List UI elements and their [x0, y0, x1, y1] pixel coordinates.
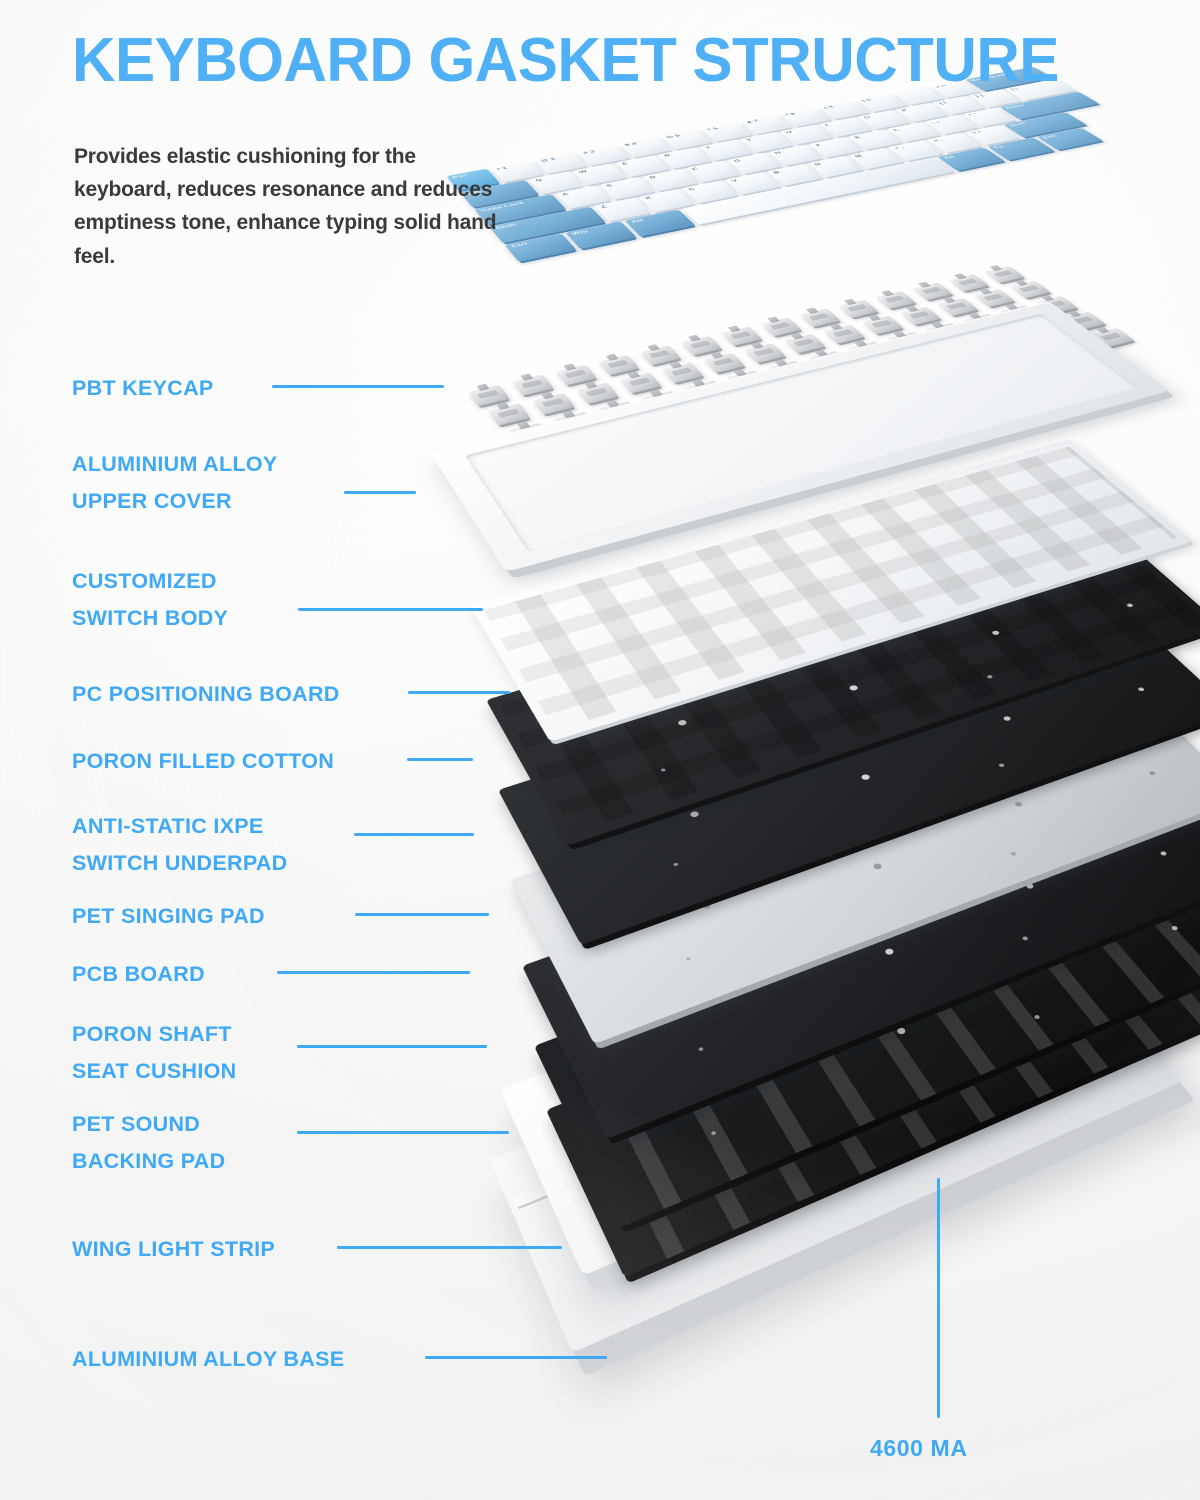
layer-pc-positioning-board [470, 439, 1192, 742]
keycap[interactable]: Enter [999, 92, 1099, 120]
mechanical-switch [937, 298, 978, 316]
callout-pet-sound-backing-pad: PET SOUND BACKING PAD [72, 1106, 225, 1179]
keycap[interactable]: * 8 [779, 107, 832, 126]
mechanical-switch [726, 370, 769, 391]
keycap-legend: Win [571, 229, 590, 236]
callout-label-pet-singing-pad: PET SINGING PAD [72, 898, 265, 935]
keyboard-row: Caps LockASDFGHJKL: ;" 'Enter [474, 92, 1099, 226]
keycap[interactable]: V [725, 172, 781, 195]
mechanical-switch [575, 431, 619, 454]
keycap[interactable]: I [819, 117, 872, 137]
keycap[interactable]: J [808, 137, 863, 158]
keycap-legend: W [578, 169, 589, 174]
keycap[interactable]: & 7 [740, 114, 793, 134]
keycap-legend: B [772, 170, 781, 174]
mechanical-switch [688, 429, 733, 452]
keycap[interactable]: C [682, 180, 738, 203]
keycap[interactable]: Shift [1003, 112, 1087, 138]
keycap[interactable]: W [573, 163, 628, 185]
keycap-legend: M [854, 154, 864, 158]
mechanical-switch [1010, 281, 1051, 299]
layer-aluminium-alloy-upper-cover [430, 301, 1169, 572]
keycap[interactable]: { [ [932, 96, 985, 115]
keycap-legend: $ 4 [624, 142, 638, 147]
leader-line-pc-positioning-board [408, 691, 510, 694]
layer-base-top-tray [500, 876, 1183, 1276]
keycap-legend: ) 0 [860, 98, 872, 102]
keycap-legend: O [863, 116, 872, 120]
mechanical-switch [703, 353, 745, 373]
keycap[interactable]: @ 2 [534, 152, 588, 174]
keycap[interactable]: T [699, 140, 753, 161]
callout-anti-static-ixpe: ANTI-STATIC IXPE SWITCH UNDERPAD [72, 808, 288, 881]
mechanical-switch [858, 386, 902, 408]
keycap[interactable]: # 3 [577, 144, 630, 165]
mechanical-switch [848, 341, 890, 361]
callout-label-pbt-keycap: PBT KEYCAP [72, 370, 214, 407]
leader-line-poron-shaft-cushion [297, 1045, 487, 1048]
page-title: KEYBOARD GASKET STRUCTURE [72, 28, 1059, 93]
callout-pet-singing-pad: PET SINGING PAD [72, 898, 265, 935]
mechanical-switch [775, 407, 819, 429]
mechanical-switch [598, 451, 643, 475]
mechanical-switch [1063, 312, 1105, 331]
callout-label-anti-static-ixpe: ANTI-STATIC IXPE SWITCH UNDERPAD [72, 808, 288, 881]
keycap-legend: ( 9 [823, 105, 835, 109]
keycap[interactable]: " ' [962, 108, 1016, 127]
mechanical-switch [978, 356, 1022, 376]
mechanical-switch [838, 300, 878, 318]
mechanical-switch [1016, 347, 1059, 367]
keycap[interactable]: Shift [489, 206, 606, 243]
keycap-legend: X [644, 196, 653, 200]
mechanical-switch [951, 339, 994, 359]
keycap[interactable]: ) 0 [855, 93, 907, 112]
keycap-legend: Alt [942, 155, 956, 160]
keycap-legend: { [ [937, 101, 948, 105]
callout-wing-light-strip: WING LIGHT STRIP [72, 1231, 275, 1268]
keycap[interactable]: Ctrl [504, 233, 576, 262]
keycap-legend: Ctrl [1041, 134, 1058, 139]
keycap[interactable]: N [808, 156, 864, 178]
mechanical-switch [974, 289, 1015, 307]
mechanical-switch [620, 420, 664, 443]
callout-label-aluminium-alloy-base: ALUMINIUM ALLOY BASE [72, 1341, 344, 1378]
callout-label-aluminium-upper-cover: ALUMINIUM ALLOY UPPER COVER [72, 446, 278, 519]
keycap[interactable]: L [887, 122, 941, 142]
mechanical-switch [939, 366, 983, 387]
layer-poron-filled-cotton [486, 517, 1200, 845]
keycap[interactable]: Alt [624, 209, 695, 236]
mechanical-switch [1026, 321, 1068, 340]
mechanical-switch [744, 343, 786, 363]
layer-wing-light-strip [512, 1152, 625, 1207]
mechanical-switch [708, 399, 752, 421]
mechanical-switch [899, 376, 943, 397]
keycap-legend: I [824, 124, 830, 127]
layer-pet-sound-backing-pad [546, 874, 1200, 1277]
keycap[interactable]: S [600, 177, 656, 200]
keycap-legend: G [733, 159, 743, 163]
keycap-legend: J [814, 143, 822, 147]
mechanical-switch [833, 368, 876, 389]
keycap[interactable]: ^ 6 [700, 122, 753, 142]
mechanical-switch [784, 334, 826, 354]
keycap-legend: A [561, 192, 570, 197]
keycap-legend: Ctrl [510, 242, 529, 249]
keycap-legend: % 5 [665, 134, 681, 139]
keycap[interactable]: P [895, 103, 948, 122]
callout-customized-switch-body: CUSTOMIZED SWITCH BODY [72, 563, 228, 636]
callout-label-pet-sound-backing-pad: PET SOUND BACKING PAD [72, 1106, 225, 1179]
keycap-legend: C [688, 187, 697, 191]
mechanical-switch [949, 274, 989, 291]
mechanical-switch [576, 382, 618, 403]
callout-pbt-keycap: PBT KEYCAP [72, 370, 214, 407]
mechanical-switch [681, 336, 722, 356]
keycap[interactable]: : ; [925, 115, 979, 135]
battery-compartment [773, 943, 975, 1057]
mechanical-switch [619, 372, 661, 393]
leader-line-pcb-board [277, 971, 470, 974]
keycap[interactable]: Q [529, 171, 584, 194]
mechanical-switch [984, 266, 1024, 283]
callout-poron-shaft-cushion: PORON SHAFT SEAT CUSHION [72, 1016, 236, 1089]
keycap[interactable]: F [685, 160, 740, 182]
keycap-legend: Shift [1008, 121, 1028, 127]
keycap-legend: Z [600, 205, 608, 209]
keycap[interactable]: R [658, 147, 712, 168]
page-subtitle: Provides elastic cushioning for the keyb… [74, 140, 504, 273]
keycap-legend: Y [745, 138, 754, 142]
keycap[interactable]: H [768, 145, 823, 166]
mechanical-switch [732, 418, 777, 441]
mechanical-switch [684, 380, 727, 401]
mechanical-switch [1036, 296, 1077, 314]
callout-label-customized-switch-body: CUSTOMIZED SWITCH BODY [72, 563, 228, 636]
keycap-legend: Enter [1004, 104, 1026, 110]
mechanical-switch [488, 403, 531, 425]
mechanical-switch [873, 358, 916, 378]
keycap[interactable] [682, 157, 954, 224]
mechanical-switch [1054, 337, 1097, 357]
keycap-legend: U [785, 130, 794, 134]
mechanical-switch [963, 314, 1005, 333]
keycap-legend: : ; [930, 120, 941, 124]
mechanical-switch [508, 422, 551, 445]
layer-aluminium-alloy-base [490, 934, 1181, 1353]
keycap[interactable]: Alt [937, 147, 1005, 171]
keycap-legend: # 3 [582, 150, 596, 155]
keycap-legend: E [621, 162, 630, 166]
mechanical-switch [512, 375, 554, 396]
callout-aluminium-upper-cover: ALUMINIUM ALLOY UPPER COVER [72, 446, 278, 519]
mechanical-switch [1000, 305, 1042, 323]
callout-aluminium-alloy-base: ALUMINIUM ALLOY BASE [72, 1341, 344, 1378]
keycap[interactable]: $ 4 [619, 137, 672, 158]
keycap[interactable]: A [555, 185, 611, 208]
mechanical-switch [533, 393, 575, 415]
mechanical-switch [552, 463, 597, 488]
keycap[interactable]: E [616, 155, 670, 177]
keycap-legend: > . [932, 138, 945, 143]
keyboard-row: TabQWERTYUIOP{ [} ]| \ [460, 79, 1077, 208]
leader-line-poron-filled-cotton [407, 758, 473, 761]
callout-label-poron-shaft-cushion: PORON SHAFT SEAT CUSHION [72, 1016, 236, 1089]
keycap[interactable]: Z [594, 198, 651, 222]
callout-pc-positioning-board: PC POSITIONING BOARD [72, 676, 340, 713]
mechanical-switch [808, 351, 850, 371]
mechanical-switch [768, 360, 811, 381]
keycap[interactable]: Fn [987, 137, 1054, 160]
keycap[interactable]: X [638, 189, 695, 213]
battery-leader-line [937, 1178, 940, 1418]
layer-poron-shaft-seat-cushion [534, 818, 1200, 1227]
keycap-legend: N [813, 162, 822, 166]
leader-line-customized-switch-body [298, 608, 483, 611]
keycap[interactable]: ? / [965, 125, 1020, 145]
keycap-legend: K [853, 135, 862, 139]
callout-label-pcb-board: PCB BOARD [72, 956, 205, 993]
leader-line-pet-singing-pad [355, 913, 489, 916]
keycap-legend: & 7 [745, 119, 760, 124]
mechanical-switch [640, 345, 681, 365]
mechanical-switch [792, 378, 835, 399]
mechanical-switch [642, 391, 685, 413]
keycap-legend: * 8 [784, 112, 797, 116]
leader-line-aluminium-upper-cover [344, 491, 416, 494]
keycap[interactable]: U [780, 125, 834, 145]
keycap-legend: D [648, 175, 657, 179]
mechanical-switch [912, 349, 955, 369]
leader-line-aluminium-alloy-base [425, 1356, 607, 1359]
keycap[interactable]: G [727, 153, 782, 175]
callout-pcb-board: PCB BOARD [72, 956, 205, 993]
leader-line-wing-light-strip [337, 1246, 562, 1249]
keycap[interactable]: B [767, 164, 823, 186]
mechanical-switch [530, 442, 574, 466]
poster-stage: Esc! 1@ 2# 3$ 4% 5^ 6& 7* 8( 9) 0_ -+ =B… [0, 0, 1200, 1500]
keycap-legend: L [892, 128, 900, 132]
mechanical-switch [761, 317, 802, 336]
keycap-legend: " ' [968, 113, 979, 117]
mechanical-switch [912, 283, 952, 301]
mechanical-switch [468, 385, 510, 407]
keycap-legend: T [704, 146, 712, 150]
mechanical-switch [721, 327, 762, 346]
keycap-legend: ^ 6 [706, 127, 720, 132]
mechanical-switch [750, 388, 794, 410]
callout-label-poron-filled-cotton: PORON FILLED COTTON [72, 743, 334, 780]
leader-line-anti-static-ixpe [354, 833, 474, 836]
keycap[interactable]: K [848, 129, 902, 149]
layer-anti-static-ixpe-underpad [498, 595, 1200, 944]
keycap[interactable]: > . [927, 132, 982, 153]
mechanical-switch [598, 355, 639, 375]
keycap[interactable]: % 5 [660, 129, 713, 149]
mechanical-switch [800, 308, 841, 327]
mechanical-switch [1091, 328, 1134, 347]
mechanical-switch [817, 396, 861, 418]
keycap[interactable]: Y [740, 132, 794, 153]
callout-label-wing-light-strip: WING LIGHT STRIP [72, 1231, 275, 1268]
mechanical-switch [665, 409, 709, 432]
keycap-legend: F [691, 167, 699, 171]
layer-pcb-board [522, 749, 1200, 1139]
keycap-legend: V [730, 179, 739, 183]
layer-pbt-keycap: Esc! 1@ 2# 3$ 4% 5^ 6& 7* 8( 9) 0_ -+ =B… [446, 61, 1200, 301]
keycap[interactable]: O [857, 110, 910, 130]
keycap-legend: Fn [993, 145, 1006, 150]
keycap-legend: R [663, 154, 672, 158]
keycap[interactable]: Ctrl [1036, 127, 1103, 150]
mechanical-switch [644, 440, 689, 464]
mechanical-switch [662, 362, 704, 383]
mechanical-switch [823, 325, 864, 344]
mechanical-switch [900, 307, 941, 326]
mechanical-switch [887, 332, 929, 351]
mechanical-switch [989, 330, 1032, 349]
keycap[interactable]: M [848, 148, 904, 169]
mechanical-switch [875, 291, 915, 309]
keycap-legend: ? / [970, 130, 983, 135]
mechanical-switch [862, 315, 903, 334]
keycap-legend: Q [534, 178, 543, 182]
keyboard-row: CtrlWinAltAltFnCtrl [504, 127, 1103, 261]
battery-capacity-label: 4600 MA [870, 1435, 968, 1462]
mechanical-switch [554, 412, 597, 435]
keycap[interactable]: < , [888, 140, 943, 161]
mechanical-switch [925, 323, 967, 342]
keycap-legend: @ 2 [539, 157, 556, 163]
mechanical-switch [556, 365, 597, 386]
mechanical-switch [598, 401, 641, 423]
keycap-legend: P [900, 109, 909, 113]
keyboard-row: ShiftZXCVBNM< ,> .? /Shift [489, 112, 1087, 243]
keycap[interactable]: D [643, 169, 698, 191]
leader-line-pet-sound-backing-pad [297, 1131, 509, 1134]
keycap[interactable]: ( 9 [818, 100, 870, 119]
keycap-legend: H [774, 151, 783, 155]
layer-customized-switch-body [468, 252, 1200, 531]
layer-pet-singing-pad [510, 674, 1200, 1044]
callout-label-pc-positioning-board: PC POSITIONING BOARD [72, 676, 340, 713]
leader-line-pbt-keycap [272, 385, 444, 388]
keycap[interactable]: Win [565, 221, 637, 249]
keycap-legend: < , [893, 146, 906, 151]
callout-poron-filled-cotton: PORON FILLED COTTON [72, 743, 334, 780]
keycap-legend: Alt [630, 218, 645, 224]
keycap-legend: S [605, 184, 614, 188]
